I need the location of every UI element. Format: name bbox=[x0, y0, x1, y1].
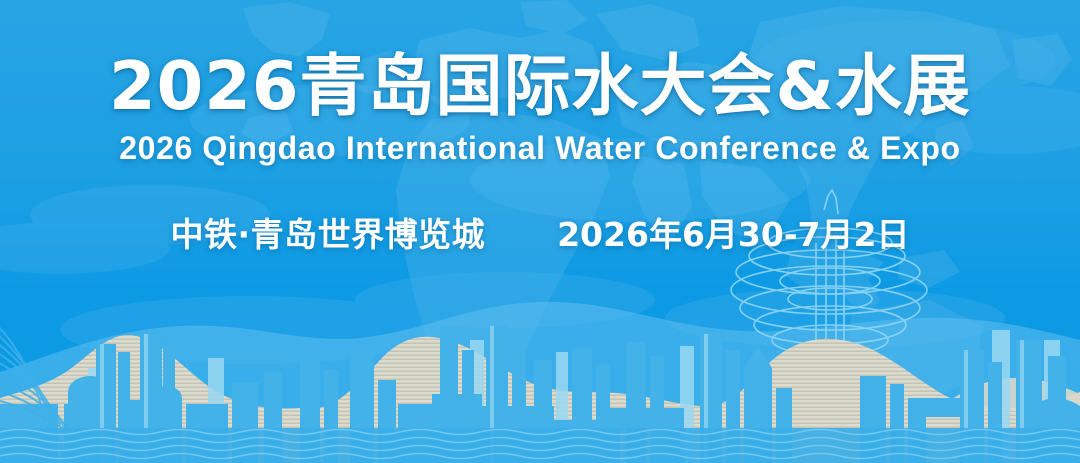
expo-banner: 2026青岛国际水大会&水展 2026 Qingdao Internationa… bbox=[0, 0, 1080, 463]
water-waves bbox=[0, 0, 1080, 463]
